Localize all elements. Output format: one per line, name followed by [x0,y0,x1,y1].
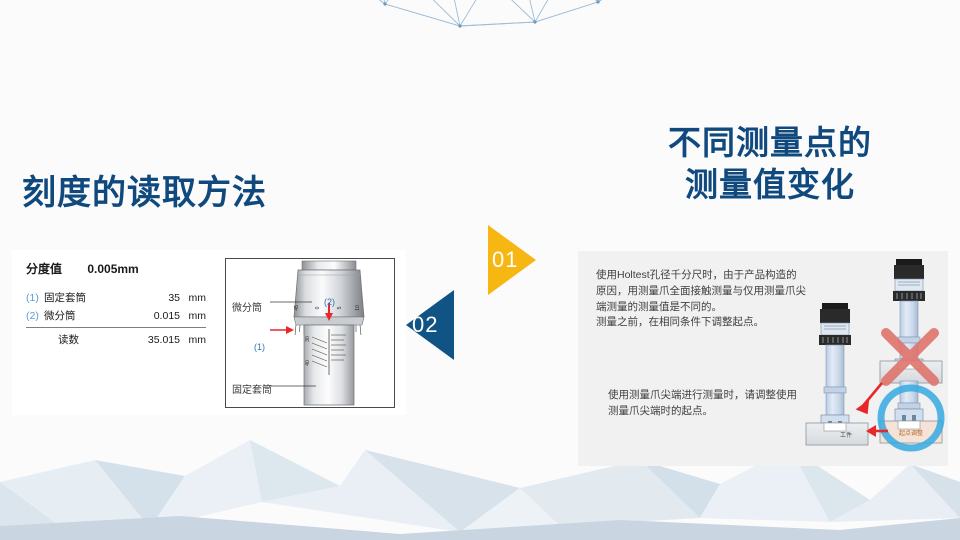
workpiece-label: 工件 [822,430,870,439]
row-index: (2) [26,310,44,322]
callout-1-arrow [270,326,294,334]
table-row: (1) 固定套筒 35 mm [26,290,206,305]
origin-adjust-label: 起点调整 [890,428,932,437]
step-badge-02[interactable]: 02 [406,290,454,360]
row-unit: mm [180,310,206,322]
row-index: (1) [26,292,44,304]
svg-text:45: 45 [294,305,300,311]
micrometer-diagram: 45 0 5 10 [225,258,395,408]
reading-method-card: 分度值 0.005mm (1) 固定套筒 35 mm (2) 微分筒 0.015… [12,250,406,415]
row-unit: mm [180,334,206,346]
callout-1-label: (1) [254,342,265,352]
decorative-polygon-top [330,0,660,40]
gauge-correct [806,303,868,445]
page-title-left: 刻度的读取方法 [22,172,267,216]
division-value-line: 分度值 0.005mm [26,260,139,277]
panel-paragraph-bottom: 使用测量爪尖端进行测量时，请调整使用测量爪尖端时的起点。 [608,388,804,420]
page-title-right-line1: 不同测量点的 [610,122,930,164]
row-unit: mm [180,292,206,304]
svg-text:40: 40 [305,360,311,366]
table-row: (2) 微分筒 0.015 mm [26,308,206,323]
row-value: 35.015 [132,334,180,346]
sleeve-label: 固定套筒 [232,381,272,396]
svg-text:5: 5 [337,306,343,309]
svg-text:30: 30 [305,336,311,342]
table-separator [26,327,206,328]
row-label: 读数 [44,332,132,347]
svg-text:10: 10 [355,305,361,311]
thimble-label: 微分筒 [232,299,262,314]
panel-paragraph-top: 使用Holtest孔径千分尺时，由于产品构造的原因，用测量爪全面接触测量与仅用测… [596,268,806,331]
division-value-number: 0.005mm [87,262,138,276]
bore-gauge-illustration: 工件 起点调整 [800,255,946,462]
svg-text:0: 0 [315,306,321,309]
callout-2-label: (2) [324,297,335,307]
slide-canvas: 刻度的读取方法 不同测量点的 测量值变化 01 02 分度值 0.005mm (… [0,0,960,540]
row-value: 35 [132,292,180,304]
row-label: 微分筒 [44,308,132,323]
table-row-total: 读数 35.015 mm [26,332,206,347]
page-title-right-line2: 测量值变化 [610,164,930,206]
page-title-right: 不同测量点的 测量值变化 [610,122,930,206]
row-label: 固定套筒 [44,290,132,305]
measurement-variation-panel: 使用Holtest孔径千分尺时，由于产品构造的原因，用测量爪全面接触测量与仅用测… [578,251,948,466]
step-badge-01-label: 01 [492,247,518,273]
reading-table: (1) 固定套筒 35 mm (2) 微分筒 0.015 mm 读数 35.01… [26,290,206,350]
division-value-label: 分度值 [26,262,62,276]
step-badge-02-label: 02 [412,312,438,338]
row-value: 0.015 [132,310,180,322]
step-badge-01[interactable]: 01 [488,225,536,295]
